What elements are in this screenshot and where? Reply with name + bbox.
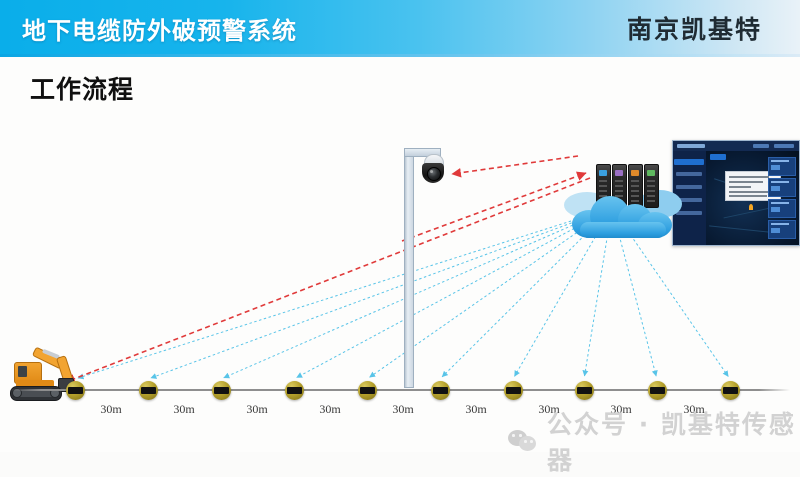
camera-pole xyxy=(404,148,414,388)
dashboard-info-panel[interactable] xyxy=(768,199,796,218)
dashboard-logo xyxy=(677,144,705,148)
slide-canvas: 地下电缆防外破预警系统 南京凯基特 工作流程 xyxy=(0,0,800,452)
cloud-platform xyxy=(562,156,682,256)
distance-label: 30m xyxy=(246,402,267,417)
dashboard-map-tab[interactable] xyxy=(710,154,726,160)
sensor-node-5 xyxy=(358,381,377,400)
distance-label: 30m xyxy=(173,402,194,417)
slide-header: 地下电缆防外破预警系统 南京凯基特 xyxy=(0,0,800,56)
distance-label: 30m xyxy=(392,402,413,417)
sensor-cloud-link xyxy=(151,211,605,378)
distance-label: 30m xyxy=(465,402,486,417)
watermark: 公众号 · 凯基特传感器 xyxy=(508,405,800,477)
dashboard-info-panel[interactable] xyxy=(768,220,796,239)
dashboard-info-panel[interactable] xyxy=(768,157,796,176)
sensor-node-6 xyxy=(431,381,450,400)
dashboard-topbar-control[interactable] xyxy=(753,144,769,148)
alert-links xyxy=(66,156,590,382)
sensor-node-2 xyxy=(139,381,158,400)
dashboard-topbar xyxy=(673,141,799,151)
page-title: 地下电缆防外破预警系统 xyxy=(22,11,297,46)
ground-line xyxy=(10,389,790,391)
sensor-node-3 xyxy=(212,381,231,400)
wechat-icon xyxy=(508,430,538,452)
sensor-cloud-link xyxy=(78,210,605,378)
ptz-camera-icon xyxy=(422,154,444,184)
sensor-node-4 xyxy=(285,381,304,400)
monitoring-dashboard-screenshot[interactable] xyxy=(672,140,800,246)
dashboard-topbar-control[interactable] xyxy=(774,144,794,148)
sensor-node-8 xyxy=(575,381,594,400)
sensor-node-10 xyxy=(721,381,740,400)
company-brand: 南京凯基特 xyxy=(627,10,762,46)
cloud-icon xyxy=(572,194,672,238)
distance-label: 30m xyxy=(319,402,340,417)
map-marker-icon xyxy=(749,204,753,210)
watermark-text: 公众号 · 凯基特传感器 xyxy=(547,405,800,477)
sensor-node-9 xyxy=(648,381,667,400)
distance-label: 30m xyxy=(100,402,121,417)
workflow-diagram: 30m30m30m30m30m30m30m30m30m xyxy=(0,56,800,452)
sensor-node-1 xyxy=(66,381,85,400)
dashboard-info-panel[interactable] xyxy=(768,178,796,197)
sensor-cloud-link xyxy=(297,212,605,378)
sensor-node-7 xyxy=(504,381,523,400)
